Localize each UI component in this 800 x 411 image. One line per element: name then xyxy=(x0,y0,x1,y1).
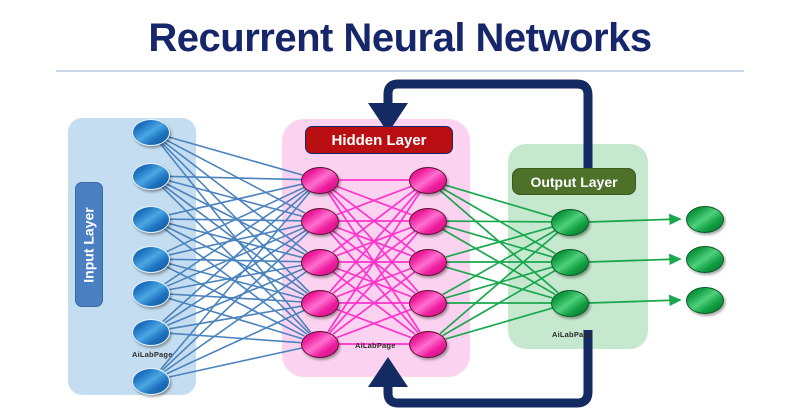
hidden2-node-1[interactable] xyxy=(409,167,447,194)
diagram-canvas: Recurrent Neural Networks Input Layer Hi… xyxy=(0,0,800,411)
watermark-output: AiLabPage xyxy=(552,330,593,339)
output-layer-badge[interactable]: Output Layer xyxy=(512,168,636,195)
hidden1-node-2[interactable] xyxy=(301,208,339,235)
hidden-layer-badge[interactable]: Hidden Layer xyxy=(305,126,453,154)
watermark-hidden: AiLabPage xyxy=(355,341,396,350)
output-layer-label: Output Layer xyxy=(530,174,617,190)
hidden1-node-5[interactable] xyxy=(301,331,339,358)
input-node-5[interactable] xyxy=(132,280,170,307)
input-layer-label: Input Layer xyxy=(81,207,97,282)
input-layer-badge[interactable]: Input Layer xyxy=(75,182,103,307)
final-output-node-3[interactable] xyxy=(686,287,724,314)
hidden2-node-2[interactable] xyxy=(409,208,447,235)
hidden1-node-1[interactable] xyxy=(301,167,339,194)
output-node-2[interactable] xyxy=(551,249,589,276)
final-output-node-2[interactable] xyxy=(686,246,724,273)
arrow-output2-final2 xyxy=(589,259,680,262)
hidden2-node-4[interactable] xyxy=(409,290,447,317)
hidden2-node-3[interactable] xyxy=(409,249,447,276)
input-node-3[interactable] xyxy=(132,206,170,233)
hidden1-node-3[interactable] xyxy=(301,249,339,276)
input-node-2[interactable] xyxy=(132,163,170,190)
output-node-3[interactable] xyxy=(551,290,589,317)
output-node-1[interactable] xyxy=(551,209,589,236)
input-node-6[interactable] xyxy=(132,319,170,346)
arrow-output1-final1 xyxy=(589,219,680,222)
final-output-node-1[interactable] xyxy=(686,206,724,233)
arrow-output3-final3 xyxy=(589,300,680,303)
input-node-7[interactable] xyxy=(132,368,170,395)
watermark-input: AiLabPage xyxy=(132,350,173,359)
input-node-4[interactable] xyxy=(132,246,170,273)
hidden1-node-4[interactable] xyxy=(301,290,339,317)
hidden-layer-label: Hidden Layer xyxy=(331,132,426,149)
output-arrows xyxy=(0,0,800,411)
hidden2-node-5[interactable] xyxy=(409,331,447,358)
input-node-1[interactable] xyxy=(132,119,170,146)
